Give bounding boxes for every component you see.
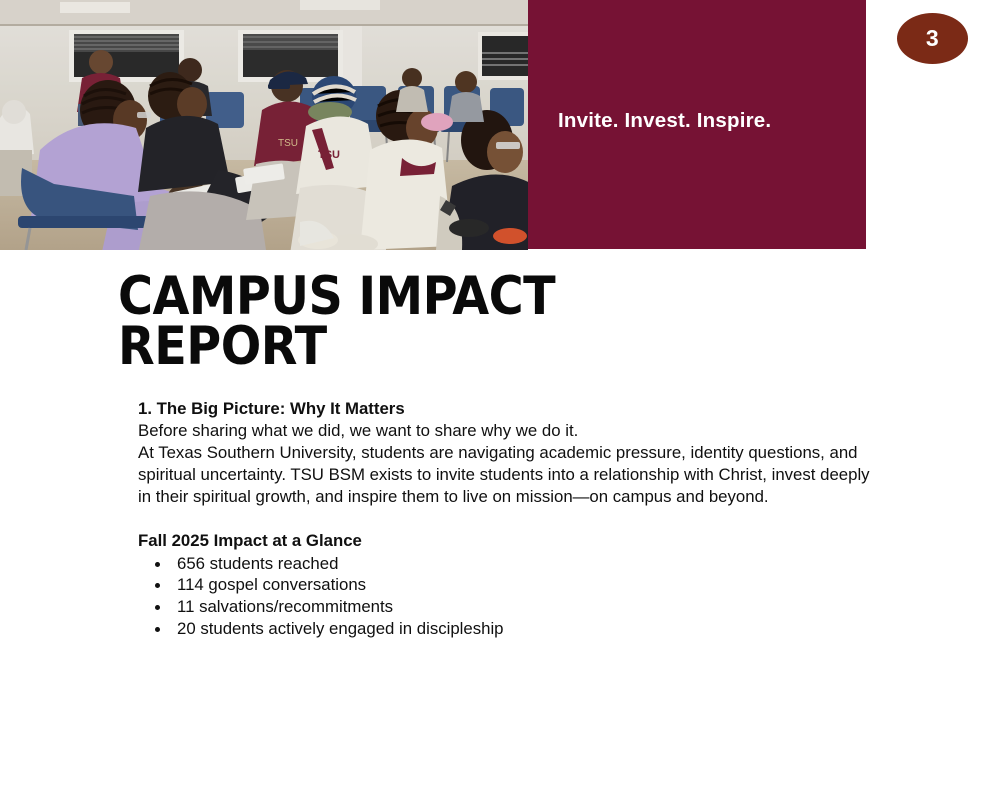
glance-heading: Fall 2025 Impact at a Glance [138, 530, 878, 552]
section-one-heading: 1. The Big Picture: Why It Matters [138, 398, 878, 420]
photo-students-meeting-icon: TSU TSU [0, 0, 528, 250]
hero-photo: TSU TSU [0, 0, 528, 250]
body-block: 1. The Big Picture: Why It Matters Befor… [138, 398, 878, 640]
page-number-badge: 3 [897, 13, 968, 64]
page-title: CAMPUS IMPACT REPORT [118, 272, 738, 372]
list-item: 11 salvations/recommitments [138, 596, 878, 618]
header-band: TSU TSU [0, 0, 992, 251]
main-content: CAMPUS IMPACT REPORT 1. The Big Picture:… [118, 272, 878, 640]
glance-stat-list: 656 students reached 114 gospel conversa… [138, 553, 878, 640]
list-item: 656 students reached [138, 553, 878, 575]
list-item: 20 students actively engaged in disciple… [138, 618, 878, 640]
tagline-panel: Invite. Invest. Inspire. [528, 0, 866, 249]
list-item: 114 gospel conversations [138, 574, 878, 596]
tagline-text: Invite. Invest. Inspire. [558, 110, 771, 133]
page-number-label: 3 [926, 27, 939, 50]
section-one-paragraph-1: Before sharing what we did, we want to s… [138, 420, 878, 442]
section-one-paragraph-2: At Texas Southern University, students a… [138, 442, 878, 507]
